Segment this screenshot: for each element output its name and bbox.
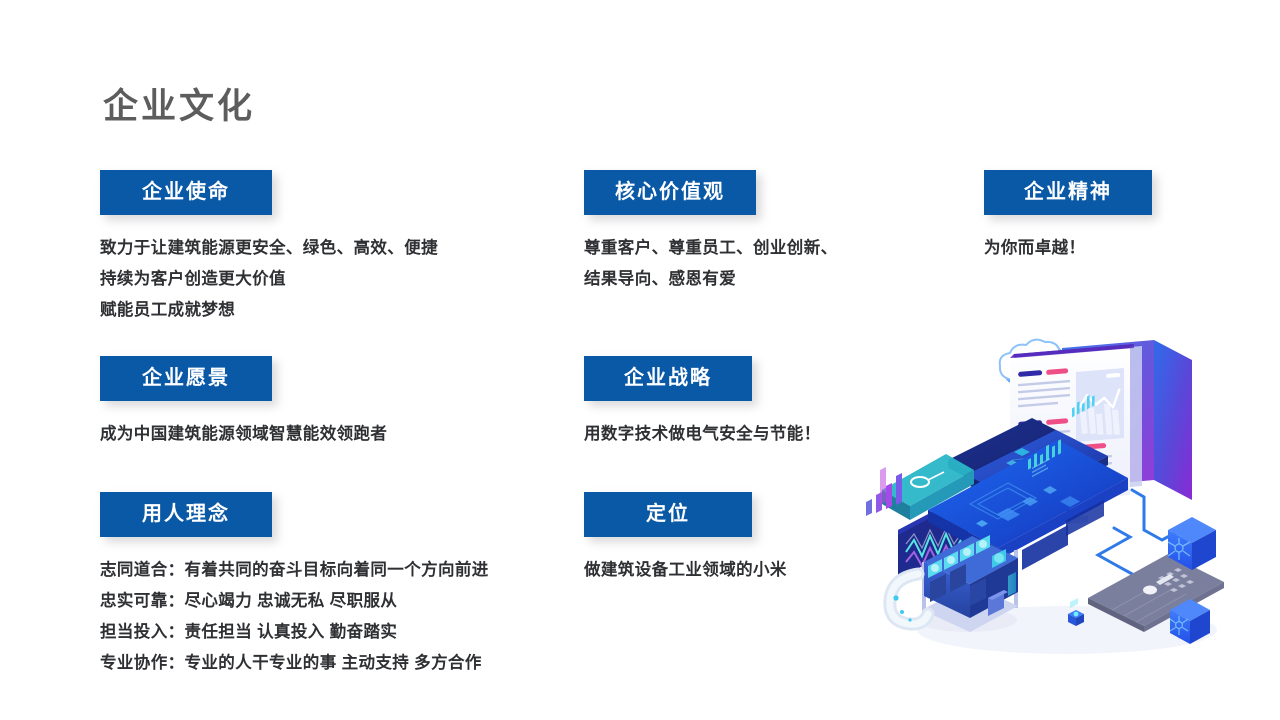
- vision-text: 成为中国建筑能源领域智慧能效领跑者: [100, 419, 387, 450]
- block-strategy: 企业战略 用数字技术做电气安全与节能！: [584, 356, 821, 450]
- core-values-text: 尊重客户、尊重员工、创业创新、 结果导向、感恩有爱: [584, 233, 838, 295]
- talent-philosophy-text: 志同道合：有着共同的奋斗目标向着同一个方向前进 忠实可靠：尽心竭力 忠诚无私 尽…: [100, 555, 489, 679]
- talent-line-1: 志同道合：有着共同的奋斗目标向着同一个方向前进: [100, 555, 489, 586]
- mission-line-3: 赋能员工成就梦想: [100, 295, 438, 326]
- screen-bottom-block: [1048, 443, 1112, 476]
- badge-strategy: 企业战略: [584, 356, 752, 401]
- dashboard-screen: [1010, 340, 1192, 526]
- core-values-line-2: 结果导向、感恩有爱: [584, 264, 838, 295]
- bar-chart-panel: [866, 467, 902, 516]
- circuit-board-platform-lower: [928, 395, 1128, 570]
- mission-line-1: 致力于让建筑能源更安全、绿色、高效、便捷: [100, 233, 438, 264]
- badge-talent-philosophy: 用人理念: [100, 492, 272, 537]
- network-cube-lower: [1170, 599, 1210, 644]
- cable-routing: [1098, 490, 1162, 575]
- vision-line-1: 成为中国建筑能源领域智慧能效领跑者: [100, 419, 387, 450]
- block-positioning: 定位 做建筑设备工业领域的小米: [584, 492, 787, 586]
- keypad-panel: [1088, 554, 1224, 632]
- positioning-line-1: 做建筑设备工业领域的小米: [584, 555, 787, 586]
- block-mission: 企业使命 致力于让建筑能源更安全、绿色、高效、便捷 持续为客户创造更大价值 赋能…: [100, 170, 438, 326]
- screen-left-column: [1018, 368, 1070, 457]
- circuit-board-platform-upper: [948, 418, 1108, 510]
- platform-mini-chart-1: [1022, 439, 1068, 570]
- network-node-small: [1068, 598, 1084, 626]
- isometric-tech-illustration: [862, 330, 1274, 670]
- screen-chart-panel: [1076, 368, 1124, 442]
- badge-positioning: 定位: [584, 492, 752, 537]
- strategy-text: 用数字技术做电气安全与节能！: [584, 419, 821, 450]
- positioning-text: 做建筑设备工业领域的小米: [584, 555, 787, 586]
- talent-line-3: 担当投入：责任担当 认真投入 勤奋踏实: [100, 617, 489, 648]
- page-title: 企业文化: [103, 88, 255, 127]
- badge-spirit: 企业精神: [984, 170, 1152, 215]
- core-values-line-1: 尊重客户、尊重员工、创业创新、: [584, 233, 838, 264]
- badge-vision: 企业愿景: [100, 356, 272, 401]
- badge-core-values: 核心价值观: [584, 170, 756, 215]
- block-spirit: 企业精神 为你而卓越！: [984, 170, 1152, 264]
- fan-modules: [928, 535, 1006, 578]
- server-rack: [917, 535, 1018, 632]
- mission-text: 致力于让建筑能源更安全、绿色、高效、便捷 持续为客户创造更大价值 赋能员工成就梦…: [100, 233, 438, 326]
- slide-canvas: 企业文化 企业使命 致力于让建筑能源更安全、绿色、高效、便捷 持续为客户创造更大…: [0, 0, 1280, 720]
- talent-line-2: 忠实可靠：尽心竭力 忠诚无私 尽职服从: [100, 586, 489, 617]
- cloud-icon: [1000, 340, 1073, 494]
- badge-mission: 企业使命: [100, 170, 272, 215]
- mission-line-2: 持续为客户创造更大价值: [100, 264, 438, 295]
- spirit-line-1: 为你而卓越！: [984, 233, 1152, 264]
- network-cube-upper: [1168, 517, 1216, 570]
- light-tube: [890, 574, 928, 624]
- strategy-line-1: 用数字技术做电气安全与节能！: [584, 419, 821, 450]
- block-core-values: 核心价值观 尊重客户、尊重员工、创业创新、 结果导向、感恩有爱: [584, 170, 838, 295]
- talent-line-4: 专业协作：专业的人干专业的事 主动支持 多方合作: [100, 648, 489, 679]
- block-vision: 企业愿景 成为中国建筑能源领域智慧能效领跑者: [100, 356, 387, 450]
- waveform-panel: [898, 493, 968, 579]
- cable-routing-right: [1162, 526, 1188, 540]
- data-panel-left: [863, 432, 974, 520]
- spirit-text: 为你而卓越！: [984, 233, 1152, 264]
- block-talent-philosophy: 用人理念 志同道合：有着共同的奋斗目标向着同一个方向前进 忠实可靠：尽心竭力 忠…: [100, 492, 489, 679]
- platform-mini-chart-2: [1066, 395, 1104, 536]
